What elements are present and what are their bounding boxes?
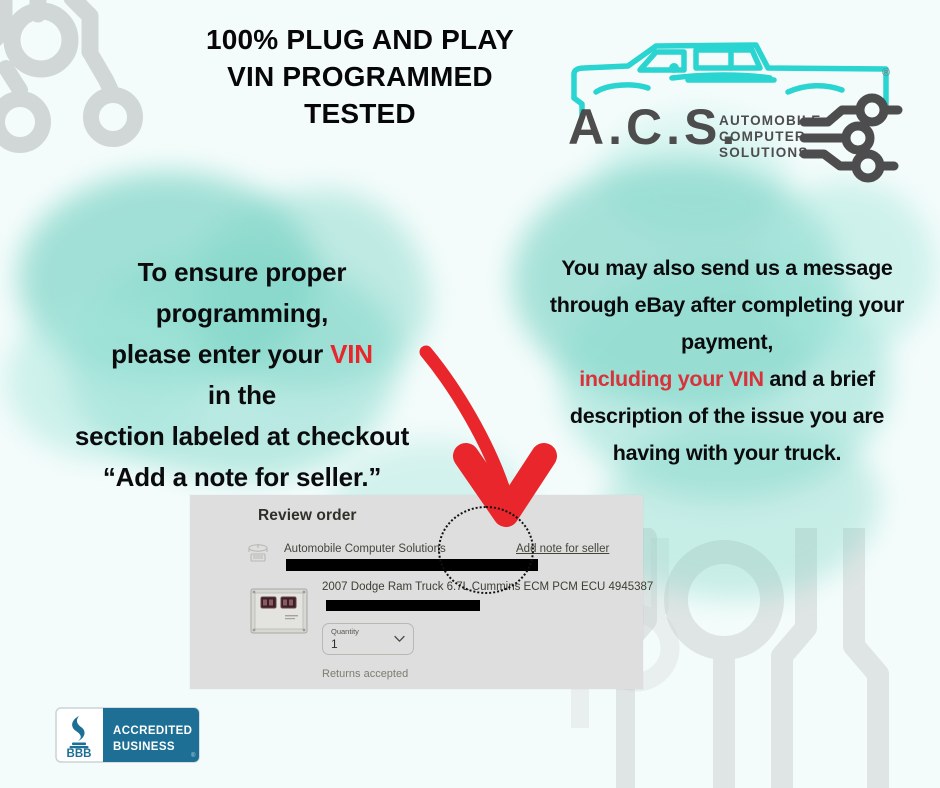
highlight-circle [438, 506, 534, 594]
left-line-4: in the [32, 375, 452, 416]
quantity-label: Quantity [331, 627, 359, 636]
instruction-right: You may also send us a message through e… [532, 250, 922, 472]
right-line-4: including your VIN and a brief [532, 361, 922, 398]
logo-wordmark: A.C.S. [568, 99, 739, 155]
review-order-heading: Review order [258, 507, 357, 525]
right-line-6: having with your truck. [532, 435, 922, 472]
right-line-1: You may also send us a message [532, 250, 922, 287]
bbb-registered-mark: ® [191, 752, 196, 759]
truck-mirror-icon [669, 63, 679, 73]
bbb-line-2: BUSINESS [113, 741, 175, 753]
left-line-1: To ensure proper [32, 252, 452, 293]
instruction-left: To ensure proper programming, please ent… [32, 252, 452, 498]
bbb-accredited-business-badge: BBB ACCREDITED BUSINESS ® [55, 707, 200, 763]
headline-line-2: VIN PROGRAMMED [120, 59, 600, 96]
right-line-4-text: and a brief [764, 367, 875, 391]
curved-down-arrow-icon [404, 338, 574, 528]
seller-name: Automobile Computer Solutions [284, 543, 446, 555]
returns-status: Returns accepted [322, 668, 408, 680]
vin-highlight-left: VIN [330, 339, 373, 369]
headline-line-1: 100% PLUG AND PLAY [120, 22, 600, 59]
left-line-5: section labeled at checkout [32, 416, 452, 457]
redaction-bar-price [326, 600, 480, 611]
quantity-value: 1 [331, 637, 338, 651]
bbb-line-1: ACCREDITED [113, 725, 192, 737]
logo-circuit-icon [804, 110, 860, 166]
circuit-trace-icon-bottom-right [616, 528, 940, 788]
page-title: 100% PLUG AND PLAY VIN PROGRAMMED TESTED [120, 22, 600, 133]
poster-canvas: 100% PLUG AND PLAY VIN PROGRAMMED TESTED… [0, 0, 940, 788]
bbb-initials: BBB [67, 748, 92, 760]
registered-mark: ® [882, 67, 890, 79]
right-line-3: payment, [532, 324, 922, 361]
left-line-3: please enter your VIN [32, 334, 452, 375]
quantity-select[interactable]: Quantity 1 [322, 623, 414, 655]
left-line-6: “Add a note for seller.” [32, 457, 452, 498]
logo-tagline-3: SOLUTIONS [719, 145, 809, 160]
seller-avatar [244, 541, 272, 565]
acs-logo: ® A.C.S. AUTOMOBILE COMPUTER SOLUTIONS [556, 26, 916, 186]
left-line-3-text: please enter your [111, 339, 330, 369]
right-line-2: through eBay after completing your [532, 287, 922, 324]
ecm-product-thumbnail [245, 581, 315, 643]
headline-line-3: TESTED [120, 96, 600, 133]
vin-highlight-right: including your VIN [579, 367, 764, 391]
right-line-5: description of the issue you are [532, 398, 922, 435]
left-line-2: programming, [32, 293, 452, 334]
chevron-down-icon [394, 635, 405, 643]
logo-tagline-2: COMPUTER [719, 129, 806, 144]
